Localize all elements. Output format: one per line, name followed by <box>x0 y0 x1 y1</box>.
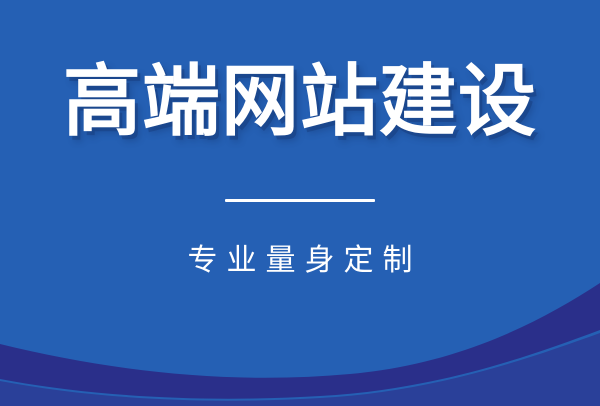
promo-banner: 高端网站建设 专业量身定制 <box>0 0 600 406</box>
page-subtitle: 专业量身定制 <box>0 243 600 279</box>
banner-content: 高端网站建设 专业量身定制 <box>0 0 600 406</box>
divider <box>225 199 375 202</box>
page-title: 高端网站建设 <box>0 62 600 140</box>
